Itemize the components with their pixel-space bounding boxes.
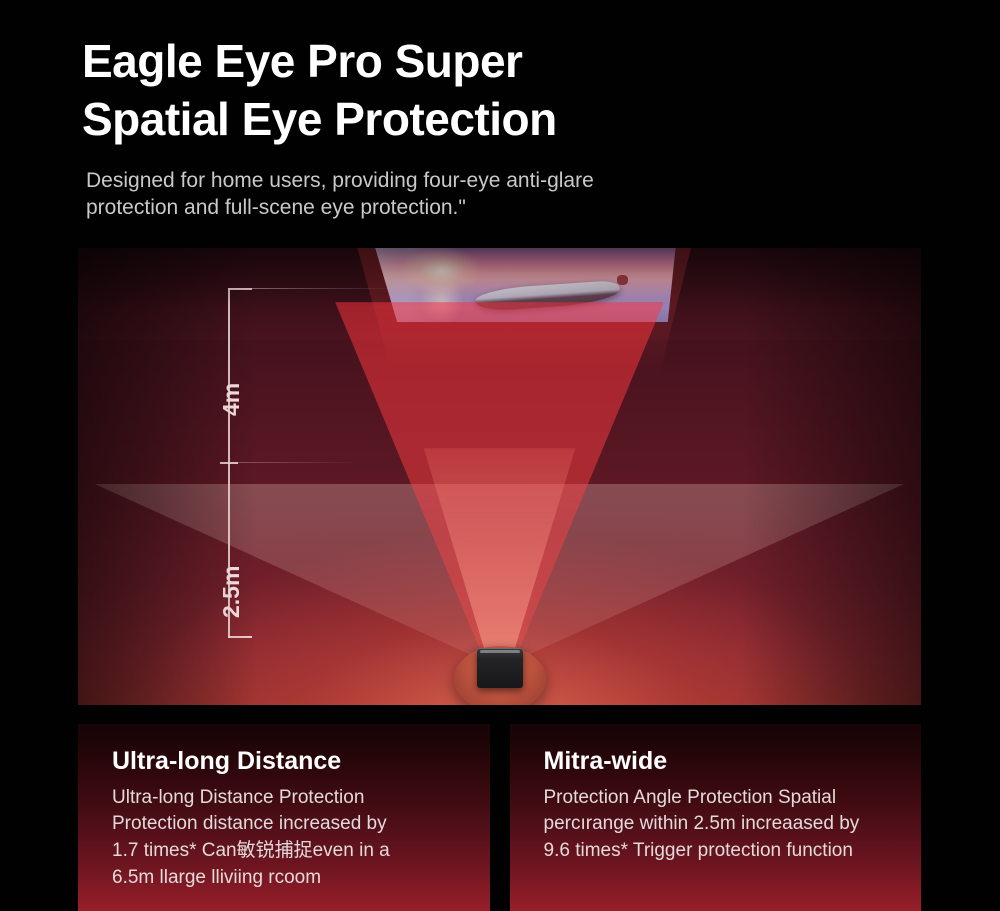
- card-body-line-2: Protection distance increased by: [112, 811, 490, 838]
- page-title: Eagle Eye Pro Super Spatial Eye Protecti…: [82, 32, 782, 149]
- feature-card-ultra-long-distance[interactable]: Ultra-long Distance Ultra-long Distance …: [78, 724, 490, 911]
- card-title: Mitra-wide: [544, 748, 922, 776]
- projection-screen: [346, 248, 676, 322]
- headline-line-2: Spatial Eye Protection: [82, 90, 782, 148]
- card-body-line-1: Protection Angle Protection Spatial: [544, 785, 922, 812]
- card-body-line-3: 1.7 times* Can敏锐捕捉even in a: [112, 838, 490, 865]
- card-title: Ultra-long Distance: [112, 748, 490, 776]
- projector-device: [477, 648, 523, 688]
- distant-boat-shape: [617, 275, 629, 285]
- beam-core-highlight: [78, 448, 921, 666]
- card-body-line-1: Ultra-long Distance Protection: [112, 785, 490, 812]
- ruler-tick-middle: [220, 462, 238, 464]
- card-body-line-4: 6.5m llarge lliviing rcoom: [112, 865, 490, 892]
- dimension-label-2point5m: 2.5m: [218, 566, 245, 618]
- projection-beam-cone: [78, 302, 921, 666]
- screen-image-sunset-lake: [346, 248, 676, 322]
- card-body: Ultra-long Distance Protection Protectio…: [112, 785, 490, 893]
- ruler-tick-bottom: [228, 636, 252, 638]
- boat-shape: [474, 280, 620, 312]
- dimension-label-4m: 4m: [218, 383, 245, 416]
- ruler-vertical-line: [228, 288, 230, 638]
- card-body-line-3: 9.6 times* Trigger protection function: [544, 838, 922, 865]
- page-subtitle: Designed for home users, providing four-…: [86, 167, 846, 222]
- subtitle-line-2: protection and full-scene eye protection…: [86, 194, 846, 221]
- card-body: Protection Angle Protection Spatial perc…: [544, 785, 922, 866]
- projection-diagram: 4m 2.5m: [78, 248, 921, 705]
- ruler-guide-mid: [238, 462, 358, 463]
- page-root: Eagle Eye Pro Super Spatial Eye Protecti…: [0, 0, 1000, 911]
- wide-protection-cone: [78, 484, 921, 666]
- subtitle-line-1: Designed for home users, providing four-…: [86, 167, 846, 194]
- headline-line-1: Eagle Eye Pro Super: [82, 32, 782, 90]
- card-body-line-2: percırange within 2.5m increaased by: [544, 811, 922, 838]
- feature-card-mitra-wide[interactable]: Mitra-wide Protection Angle Protection S…: [510, 724, 922, 911]
- feature-cards: Ultra-long Distance Ultra-long Distance …: [78, 724, 921, 911]
